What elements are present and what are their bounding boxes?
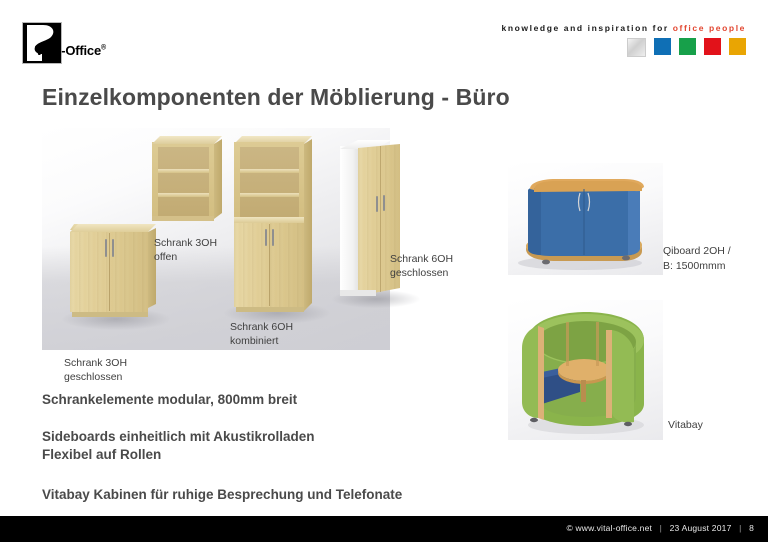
swatch-red — [704, 38, 721, 55]
tagline-main: knowledge and inspiration for — [502, 23, 669, 33]
label-schrank-6oh-kombiniert: Schrank 6OH kombiniert — [230, 320, 293, 348]
label-line-2: offen — [154, 250, 217, 264]
label-qiboard: Qiboard 2OH / B: 1500mmm — [663, 244, 731, 274]
logo-wordmark: Vital-Office® — [35, 43, 106, 58]
qiboard-render-scene — [508, 163, 663, 275]
cabinet-3oh-open — [152, 136, 222, 221]
header-tagline: knowledge and inspiration for office peo… — [502, 23, 747, 33]
cabinet-side-panel — [304, 139, 312, 311]
shelf-board-1 — [158, 169, 209, 173]
shelf-bottom-board — [152, 216, 214, 221]
logo-registered-mark: ® — [101, 45, 106, 52]
footer-copyright: © — [566, 523, 572, 533]
cabinet-door-split — [109, 233, 110, 311]
cabinet-handle-left — [265, 229, 267, 246]
label-schrank-3oh-offen: Schrank 3OH offen — [154, 236, 217, 264]
vitabay-table-leg — [581, 380, 586, 402]
cabinet-handle-right — [383, 195, 385, 211]
cabinet-handle-left — [376, 196, 378, 212]
bullet-sideboards: Sideboards einheitlich mit Akustikrollad… — [42, 428, 315, 464]
cabinet-3oh-closed — [70, 224, 156, 320]
label-line-2: B: 1500mmm — [663, 259, 731, 274]
swatch-blue — [654, 38, 671, 55]
cabinet-top-surface — [70, 224, 156, 232]
slide-root: Vital-Office® knowledge and inspiration … — [0, 0, 768, 542]
cabinet-handle-right — [272, 229, 274, 246]
qiboard-right-end — [628, 187, 640, 255]
cabinet-plinth — [72, 312, 148, 317]
vitabay-left-wing — [522, 326, 538, 418]
label-vitabay: Vitabay — [668, 418, 703, 433]
cabinet-render-scene: Schrank 3OH geschlossen Schrank 3OH offe… — [42, 128, 390, 350]
cabinet-door-split — [269, 224, 270, 306]
label-line-1: Qiboard 2OH / — [663, 244, 731, 259]
vitabay-foot-left — [530, 418, 538, 422]
swatch-green — [679, 38, 696, 55]
footer-separator-1: | — [655, 523, 667, 533]
footer-bar: © www.vital-office.net | 23 August 2017 … — [0, 516, 768, 542]
swatch-gold — [729, 38, 746, 55]
label-line-1: Vitabay — [668, 418, 703, 433]
vitabay-render-scene — [508, 300, 663, 440]
label-line-1: Schrank 3OH — [64, 356, 127, 370]
shelf-inner-cavity — [158, 147, 209, 216]
bullet-schrankelemente: Schrankelemente modular, 800mm breit — [42, 391, 297, 409]
footer-date: 23 August 2017 — [670, 523, 732, 533]
qiboard-top-surface — [534, 181, 642, 192]
label-line-2: geschlossen — [390, 266, 453, 280]
shelf-board-2 — [240, 193, 299, 197]
vitabay-foot-right — [624, 422, 632, 426]
qiboard-castor-right — [622, 256, 630, 261]
footer-separator-2: | — [734, 523, 746, 533]
label-schrank-6oh-geschlossen: Schrank 6OH geschlossen — [390, 252, 453, 280]
vitabay-table-top — [558, 359, 610, 381]
swatch-silver — [627, 38, 646, 57]
cabinet-plinth — [236, 307, 304, 312]
logo-wordmark-text: Vital-Office — [35, 43, 101, 58]
brand-color-swatches — [627, 38, 746, 57]
label-line-2: geschlossen — [64, 370, 127, 384]
label-line-1: Schrank 3OH — [154, 236, 217, 250]
shelf-top-board — [152, 136, 222, 144]
brand-logo[interactable]: Vital-Office® — [22, 22, 122, 66]
vitabay-right-wing-edge — [606, 330, 612, 418]
shelf-board-1 — [240, 169, 299, 173]
vitabay-left-wing-edge — [538, 326, 544, 420]
vitabay-inner-strip-1 — [566, 322, 569, 366]
label-line-1: Schrank 6OH — [390, 252, 453, 266]
shelf-board-2 — [158, 193, 209, 197]
label-schrank-3oh-geschlossen: Schrank 3OH geschlossen — [64, 356, 127, 384]
cabinet-6oh-combined — [234, 136, 312, 314]
footer-page-number: 8 — [749, 523, 754, 533]
qiboard-left-end — [528, 188, 541, 255]
label-line-1: Schrank 6OH — [230, 320, 293, 334]
cabinet-handle-left — [105, 239, 107, 257]
cabinet-upper-cavity — [240, 147, 299, 217]
vitabay-inner-strip-2 — [596, 322, 599, 366]
footer-text: © www.vital-office.net | 23 August 2017 … — [566, 523, 754, 533]
footer-website[interactable]: www.vital-office.net — [575, 523, 652, 533]
tagline-accent: office people — [673, 23, 746, 33]
cabinet-door-split — [380, 146, 381, 292]
qiboard-castor-left — [542, 260, 550, 265]
shelf-side-panel — [214, 139, 222, 219]
cabinet-plinth — [340, 290, 376, 296]
page-title: Einzelkomponenten der Möblierung - Büro — [42, 84, 510, 111]
bullet-vitabay: Vitabay Kabinen für ruhige Besprechung u… — [42, 486, 402, 504]
label-line-2: kombiniert — [230, 334, 293, 348]
cabinet-handle-right — [112, 239, 114, 257]
cabinet-white-carcass — [340, 146, 358, 292]
vitabay-right-wing — [612, 330, 634, 423]
